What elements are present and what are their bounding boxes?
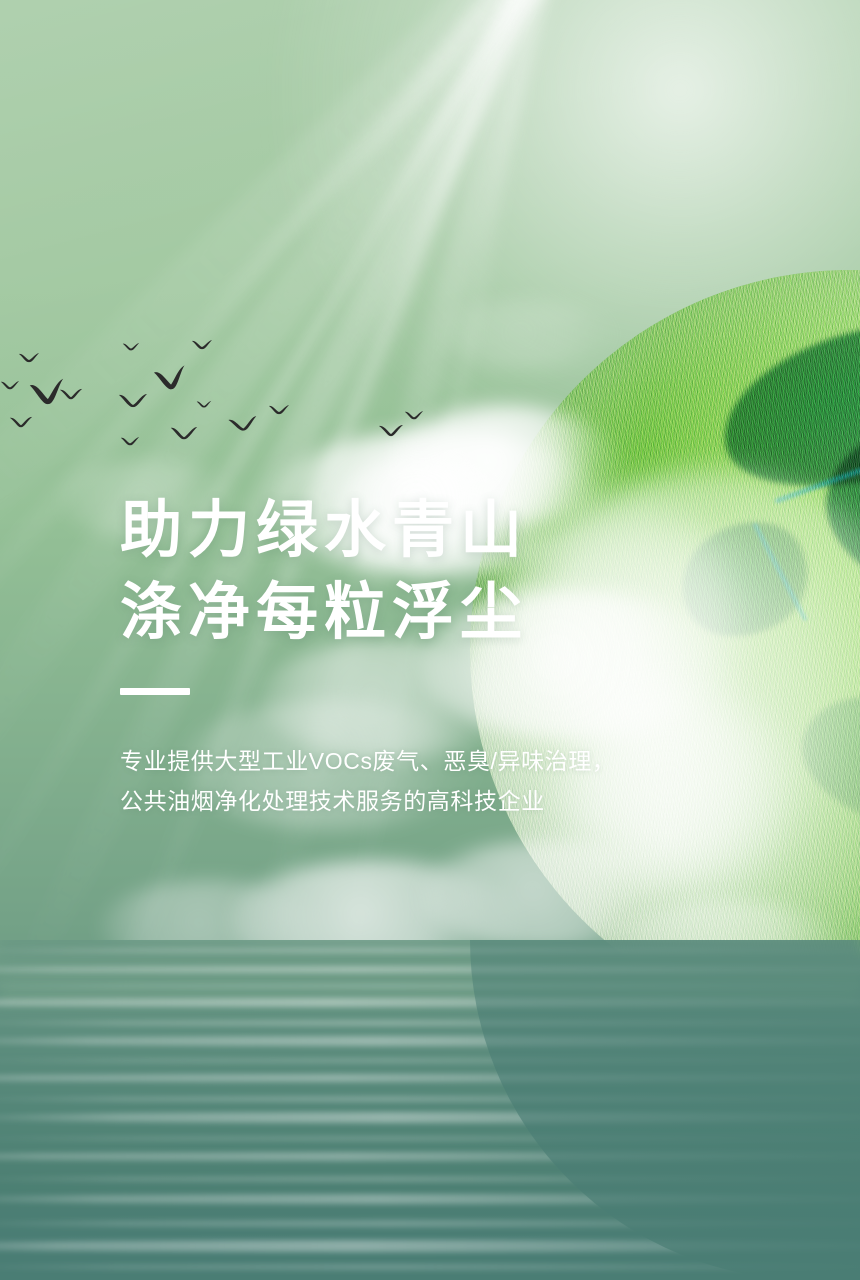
water-wave (0, 984, 860, 988)
water-wave (0, 1194, 860, 1204)
water-wave (0, 1058, 860, 1063)
water-wave (0, 1096, 860, 1102)
subtitle-line-2: 公共油烟净化处理技术服务的高科技企业 (120, 781, 680, 821)
headline-line-1: 助力绿水青山 (120, 490, 680, 572)
divider-rule (120, 688, 190, 695)
water-wave (0, 1036, 860, 1046)
water-wave (0, 1074, 860, 1082)
water-wave (0, 1220, 860, 1227)
water-wave (0, 1176, 860, 1182)
water-wave (0, 1136, 860, 1141)
water-wave (0, 1264, 860, 1270)
eco-promo-poster: 助力绿水青山 涤净每粒浮尘 专业提供大型工业VOCs废气、恶臭/异味治理， 公共… (0, 0, 860, 1280)
headline-line-2: 涤净每粒浮尘 (120, 572, 680, 654)
water-surface (0, 940, 860, 1280)
water-wave (0, 1152, 860, 1161)
water-wave (0, 1020, 860, 1026)
sun-glow (270, 0, 860, 500)
poster-text-block: 助力绿水青山 涤净每粒浮尘 专业提供大型工业VOCs废气、恶臭/异味治理， 公共… (120, 490, 680, 821)
water-wave (0, 998, 860, 1007)
subtitle-line-1: 专业提供大型工业VOCs废气、恶臭/异味治理， (120, 741, 680, 781)
water-wave (0, 948, 860, 953)
water-wave (0, 966, 860, 973)
water-wave (0, 1240, 860, 1252)
water-wave (0, 1112, 860, 1123)
